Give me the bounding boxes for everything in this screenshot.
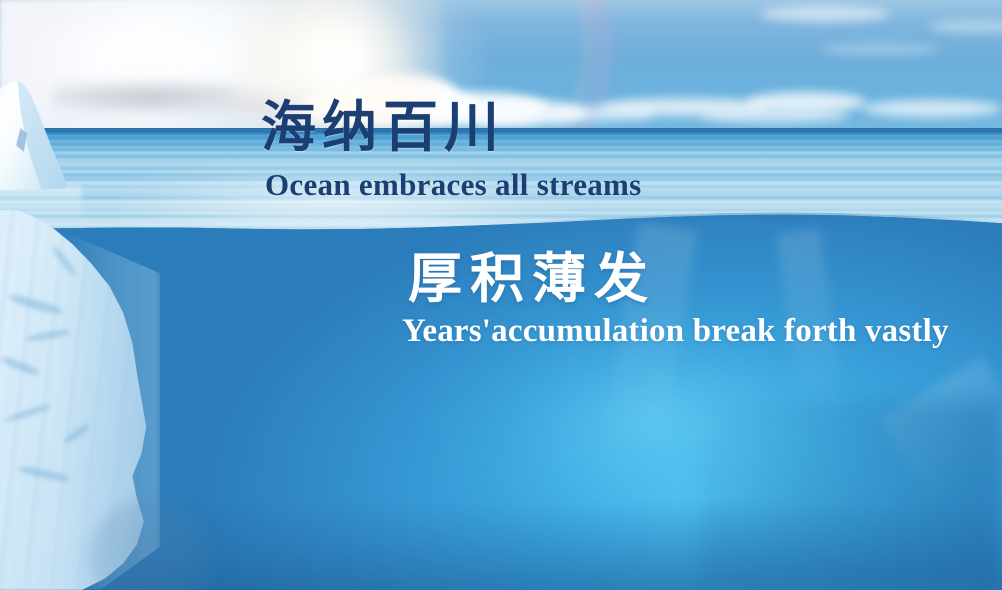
cloud-right-4 xyxy=(862,100,1002,117)
headline-english-lower: Years'accumulation break forth vastly xyxy=(402,313,949,349)
ocean-iceberg-banner: 海纳百川 Ocean embraces all streams 厚积薄发 Yea… xyxy=(0,0,1002,590)
headline-chinese-lower: 厚积薄发 xyxy=(408,252,656,306)
headline-chinese-upper: 海纳百川 xyxy=(261,100,505,155)
cloud-right-3 xyxy=(746,92,866,112)
headline-english-upper: Ocean embraces all streams xyxy=(265,168,642,202)
cloud-top-right-3 xyxy=(820,44,940,55)
cloud-top-right-1 xyxy=(760,6,890,22)
